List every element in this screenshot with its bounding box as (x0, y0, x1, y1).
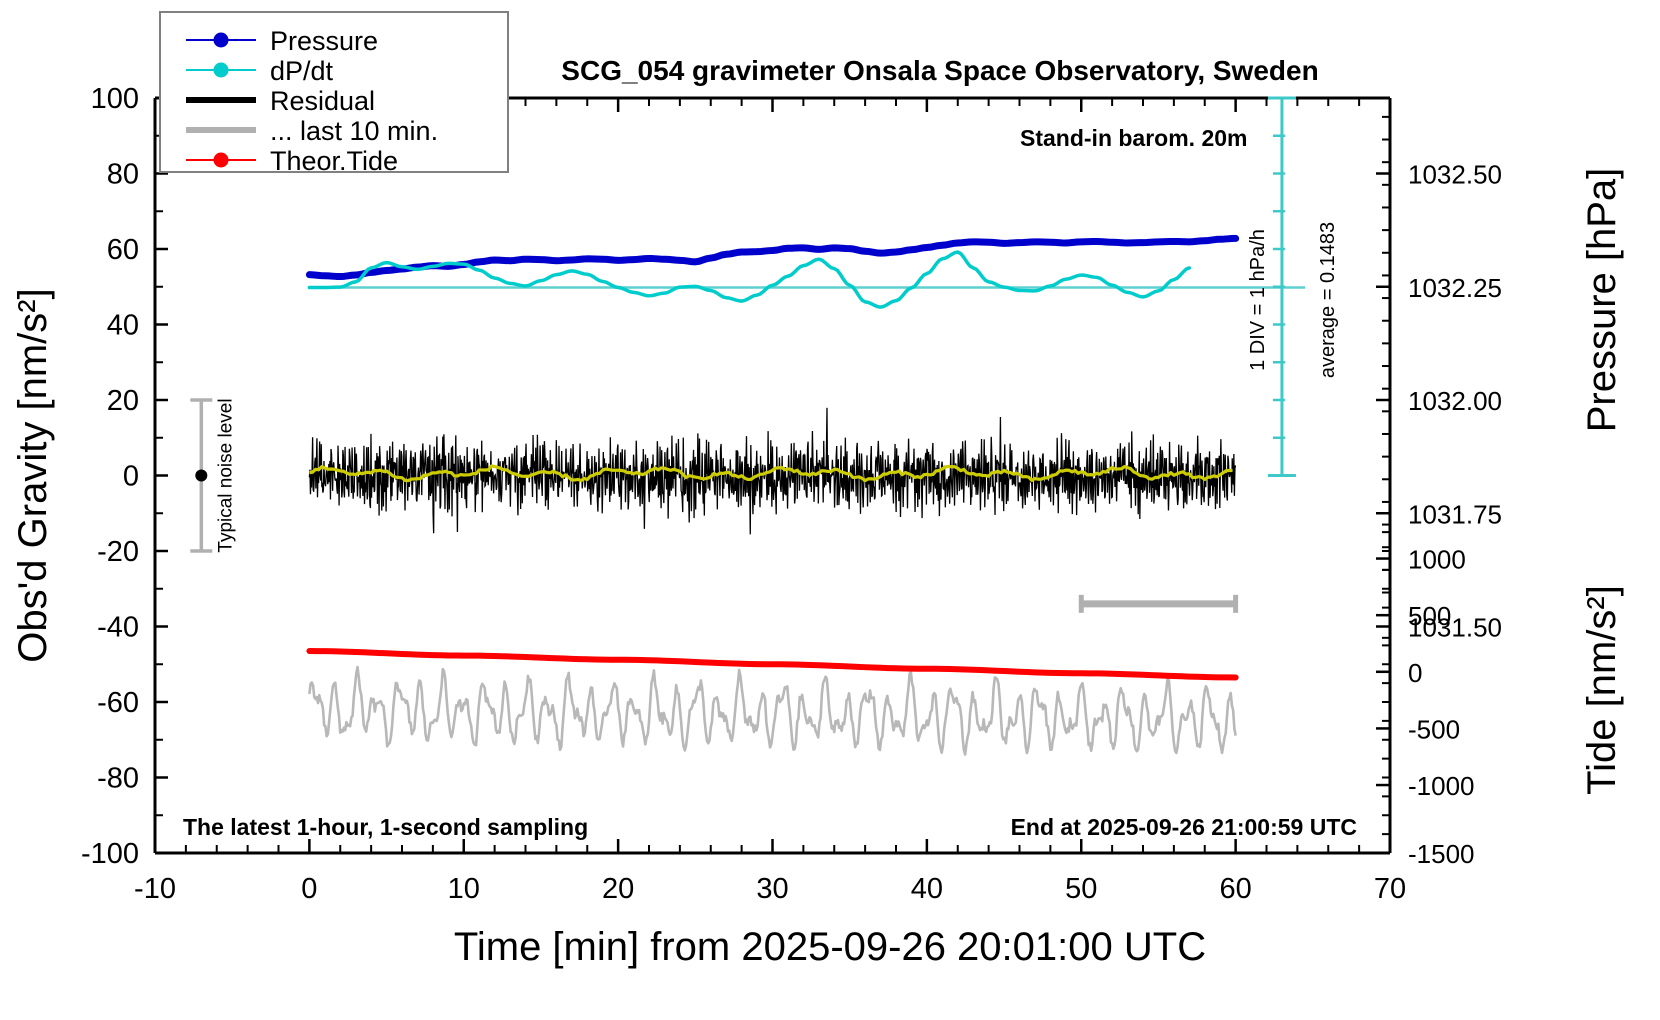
xtick-label: 20 (602, 873, 634, 905)
ytick-label: 60 (107, 234, 139, 266)
legend-item-label-0: Pressure (270, 26, 378, 56)
dpdt-div-label: 1 DIV = 1 hPa/h (1247, 229, 1269, 371)
y-axis-title: Obs'd Gravity [nm/s²] (11, 288, 55, 662)
xtick-label: 70 (1374, 873, 1406, 905)
pressure-tick-label: 1032.25 (1408, 273, 1502, 303)
ytick-label: -20 (97, 536, 139, 568)
noise-bar-center-dot (195, 470, 207, 482)
dpdt-average-label: average = 0.1483 (1317, 222, 1339, 378)
standin-barom-label: Stand-in barom. 20m (1020, 125, 1247, 151)
tide-tick-label: -1500 (1408, 839, 1475, 869)
ytick-label: 20 (107, 385, 139, 417)
ytick-label: 0 (123, 461, 139, 493)
ytick-label: -100 (81, 838, 139, 870)
tide-tick-label: 500 (1408, 601, 1451, 631)
chart-title: SCG_054 gravimeter Onsala Space Observat… (561, 55, 1318, 86)
legend-marker (214, 33, 229, 48)
xtick-label: -10 (134, 873, 176, 905)
legend-item-label-2: Residual (270, 86, 375, 116)
plot-canvas: 100806040200-20-40-60-80-100-10010203040… (0, 0, 1660, 1020)
legend-marker (214, 153, 229, 168)
legend-item-label-1: dP/dt (270, 56, 334, 86)
pressure-axis-title: Pressure [hPa] (1580, 168, 1624, 433)
legend-item-label-4: Theor.Tide (270, 146, 398, 176)
tide-axis-title: Tide [nm/s²] (1580, 585, 1624, 795)
footer-left-label: The latest 1-hour, 1-second sampling (183, 814, 588, 840)
footer-right-label: End at 2025-09-26 21:00:59 UTC (1011, 814, 1357, 840)
legend-marker (214, 63, 229, 78)
ytick-label: 100 (91, 83, 139, 115)
xtick-label: 50 (1065, 873, 1097, 905)
ytick-label: 40 (107, 310, 139, 342)
xtick-label: 30 (756, 873, 788, 905)
ytick-label: -60 (97, 687, 139, 719)
pressure-tick-label: 1031.75 (1408, 499, 1502, 529)
tide-tick-label: -500 (1408, 714, 1460, 744)
ytick-label: 80 (107, 159, 139, 191)
noise-level-label: Typical noise level (215, 398, 236, 552)
xtick-label: 40 (911, 873, 943, 905)
xtick-label: 10 (448, 873, 480, 905)
pressure-tick-label: 1032.50 (1408, 160, 1502, 190)
tide-tick-label: 1000 (1408, 545, 1466, 575)
xtick-label: 0 (301, 873, 317, 905)
legend-item-label-3: ... last 10 min. (270, 116, 438, 146)
xtick-label: 60 (1219, 873, 1251, 905)
tide-tick-label: -1000 (1408, 771, 1475, 801)
ytick-label: -80 (97, 763, 139, 795)
pressure-tick-label: 1032.00 (1408, 386, 1502, 416)
x-axis-title: Time [min] from 2025-09-26 20:01:00 UTC (454, 925, 1206, 969)
figure: 100806040200-20-40-60-80-100-10010203040… (0, 0, 1660, 1020)
ytick-label: -40 (97, 612, 139, 644)
tide-tick-label: 0 (1408, 658, 1422, 688)
